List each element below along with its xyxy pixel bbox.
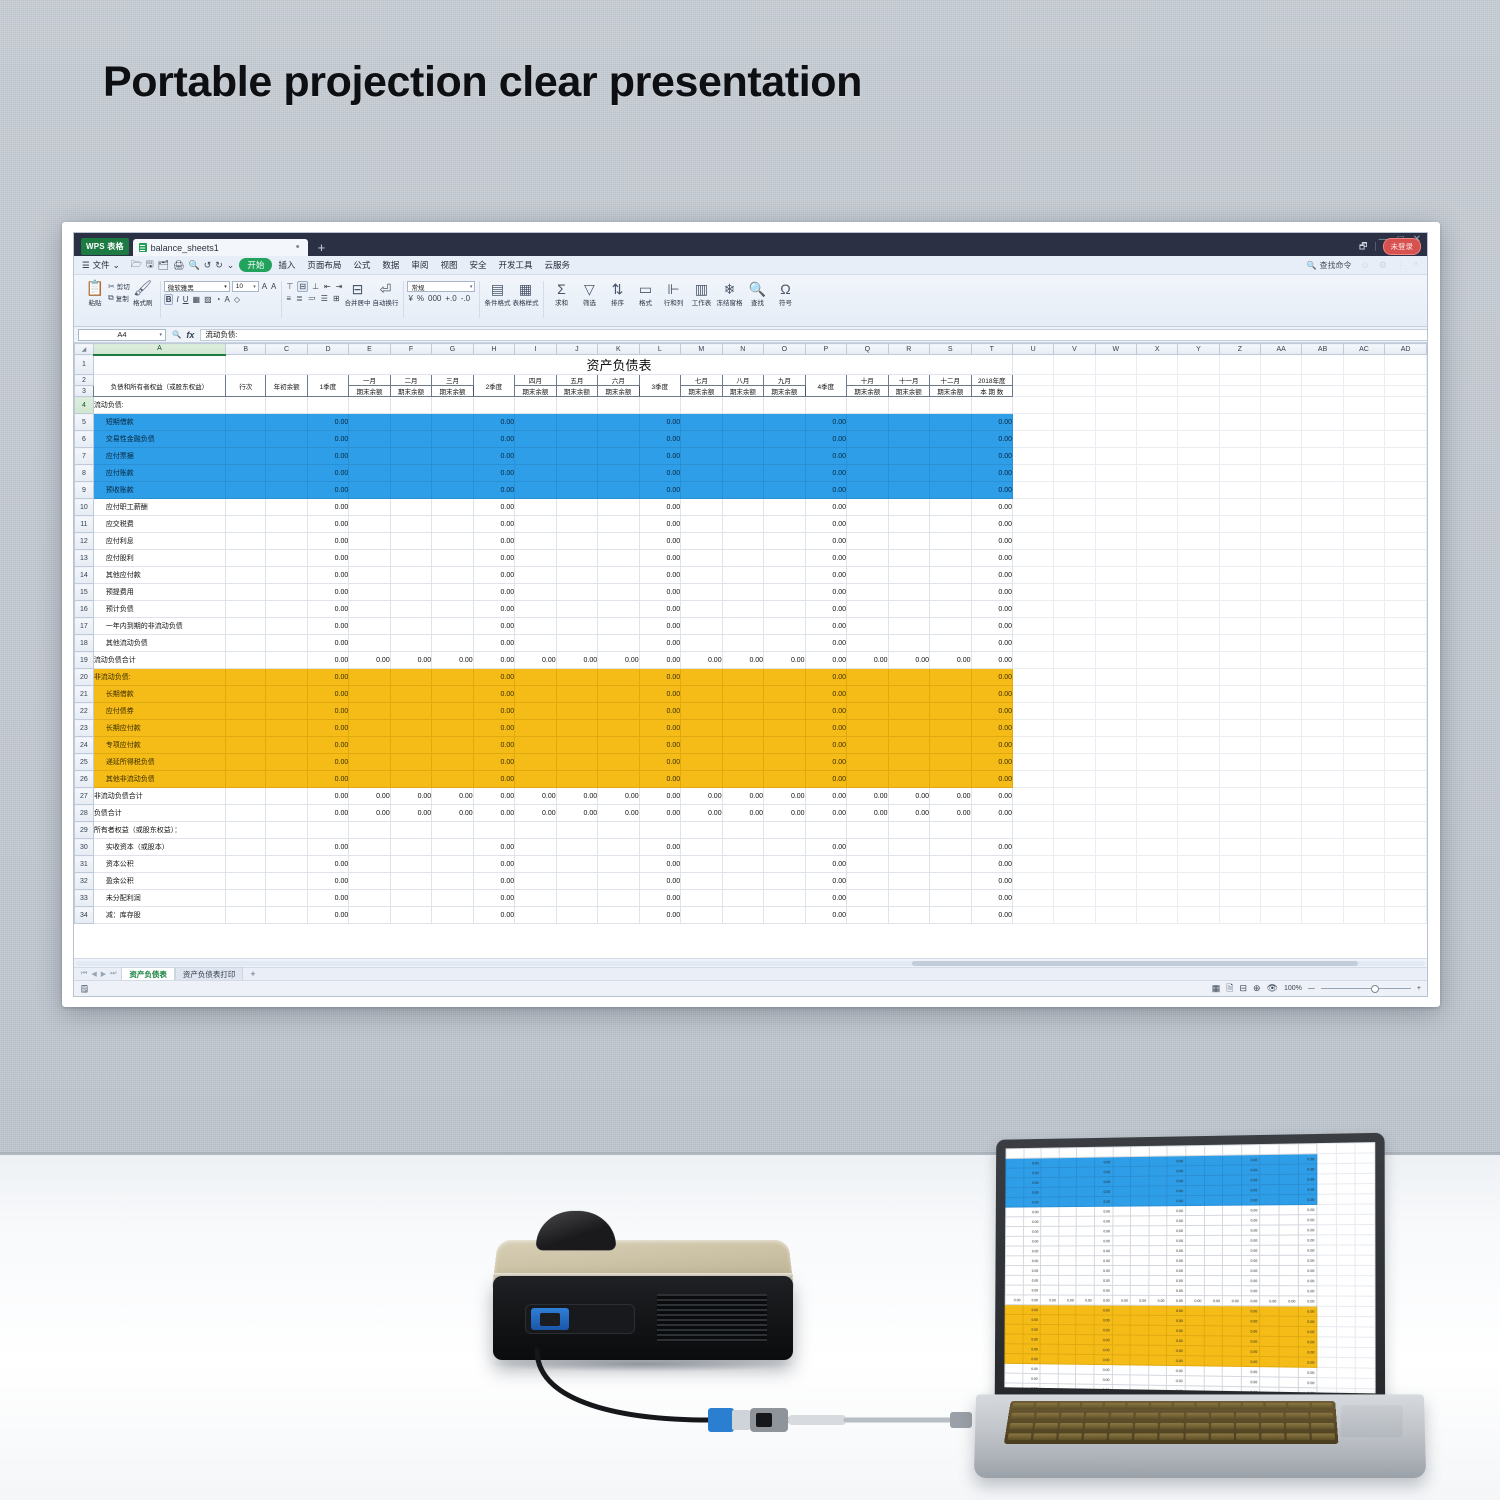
row-label-30[interactable]: 实收资本（或股本）: [93, 839, 225, 856]
scroll-track[interactable]: [76, 961, 1425, 966]
cell-P13[interactable]: 0.00: [805, 550, 846, 567]
blank-cell[interactable]: [1178, 720, 1219, 737]
cell-F4[interactable]: [390, 397, 431, 414]
cell-O8[interactable]: [764, 465, 805, 482]
blank-cell[interactable]: [1385, 584, 1427, 601]
tab-cloud-services[interactable]: 云服务: [538, 256, 576, 275]
zoom-slider-knob[interactable]: [1371, 985, 1379, 993]
blank-cell[interactable]: [1260, 375, 1301, 386]
blank-cell[interactable]: [1260, 386, 1301, 397]
blank-cell[interactable]: [1137, 754, 1178, 771]
cell-P23[interactable]: 0.00: [805, 720, 846, 737]
header-month-sub-二月[interactable]: 期末余额: [390, 386, 431, 397]
blank-cell[interactable]: [1178, 805, 1219, 822]
cell-J23[interactable]: [556, 720, 597, 737]
cell-T11[interactable]: 0.00: [971, 516, 1013, 533]
cell-J27[interactable]: 0.00: [556, 788, 597, 805]
cell-H13[interactable]: 0.00: [473, 550, 514, 567]
blank-cell[interactable]: [1302, 482, 1343, 499]
column-header-O[interactable]: O: [764, 344, 805, 355]
report-title-cell[interactable]: 资产负债表: [226, 355, 1013, 375]
cell-P9[interactable]: 0.00: [805, 482, 846, 499]
keyboard-key[interactable]: [1288, 1403, 1309, 1409]
cell-S33[interactable]: [930, 890, 971, 907]
blank-cell[interactable]: [1260, 703, 1301, 720]
cell-L9[interactable]: 0.00: [639, 482, 680, 499]
blank-cell[interactable]: [1385, 686, 1427, 703]
cell-F13[interactable]: [390, 550, 431, 567]
cell-E10[interactable]: [349, 499, 390, 516]
cell-F16[interactable]: [390, 601, 431, 618]
cell-J20[interactable]: [556, 669, 597, 686]
keyboard-key[interactable]: [1012, 1403, 1034, 1409]
customize-qat-icon[interactable]: ⌄: [227, 260, 235, 271]
font-color-icon[interactable]: A: [223, 295, 230, 304]
blank-cell[interactable]: [1385, 550, 1427, 567]
cell-P32[interactable]: 0.00: [805, 873, 846, 890]
cell-T28[interactable]: 0.00: [971, 805, 1013, 822]
cell-N24[interactable]: [722, 737, 763, 754]
blank-cell[interactable]: [1137, 448, 1178, 465]
keyboard-key[interactable]: [1220, 1403, 1241, 1409]
blank-cell[interactable]: [1302, 907, 1343, 924]
blank-cell[interactable]: [1343, 386, 1384, 397]
table-style-button[interactable]: ▦ 表格样式: [511, 278, 539, 307]
cell-Q22[interactable]: [847, 703, 888, 720]
cell-Q29[interactable]: [847, 822, 888, 839]
blank-cell[interactable]: [1343, 601, 1384, 618]
strikethrough-icon[interactable]: ▨: [203, 295, 213, 304]
blank-cell[interactable]: [1095, 754, 1136, 771]
blank-cell[interactable]: [1095, 533, 1136, 550]
cell-E26[interactable]: [349, 771, 390, 788]
cell-T16[interactable]: 0.00: [971, 601, 1013, 618]
cell-D22[interactable]: 0.00: [307, 703, 348, 720]
blank-cell[interactable]: [1219, 516, 1260, 533]
blank-cell[interactable]: [1260, 550, 1301, 567]
cell-D9[interactable]: 0.00: [307, 482, 348, 499]
blank-cell[interactable]: [1095, 499, 1136, 516]
cell-H26[interactable]: 0.00: [473, 771, 514, 788]
cell-P24[interactable]: 0.00: [805, 737, 846, 754]
cell-F5[interactable]: [390, 414, 431, 431]
blank-cell[interactable]: [1013, 822, 1054, 839]
blank-cell[interactable]: [1013, 669, 1054, 686]
cell-I12[interactable]: [515, 533, 556, 550]
cell-E34[interactable]: [349, 907, 390, 924]
sheet-row-26[interactable]: 26其他非流动负债0.000.000.000.000.00: [75, 771, 1427, 788]
cell-S21[interactable]: [930, 686, 971, 703]
blank-cell[interactable]: [1054, 703, 1095, 720]
row-header-2[interactable]: 2: [75, 375, 94, 386]
cell-L31[interactable]: 0.00: [639, 856, 680, 873]
cell-L20[interactable]: 0.00: [639, 669, 680, 686]
row-label-5[interactable]: 短期借款: [93, 414, 225, 431]
blank-cell[interactable]: [1178, 839, 1219, 856]
cell-G10[interactable]: [432, 499, 473, 516]
blank-cell[interactable]: [1219, 601, 1260, 618]
blank-cell[interactable]: [1013, 567, 1054, 584]
blank-cell[interactable]: [1137, 635, 1178, 652]
keyboard-key[interactable]: [1035, 1403, 1057, 1409]
sheet-row-33[interactable]: 33未分配利润0.000.000.000.000.00: [75, 890, 1427, 907]
blank-cell[interactable]: [1219, 533, 1260, 550]
cell-C28[interactable]: [266, 805, 307, 822]
blank-cell[interactable]: [1219, 386, 1260, 397]
row-header-9[interactable]: 9: [75, 482, 94, 499]
cell-N14[interactable]: [722, 567, 763, 584]
blank-cell[interactable]: [1054, 720, 1095, 737]
cell-K24[interactable]: [598, 737, 639, 754]
column-header-V[interactable]: V: [1054, 344, 1095, 355]
cell-C24[interactable]: [266, 737, 307, 754]
cell-N4[interactable]: [722, 397, 763, 414]
sheet-row-29[interactable]: 29所有者权益（或股东权益）：: [75, 822, 1427, 839]
blank-cell[interactable]: [1219, 397, 1260, 414]
blank-cell[interactable]: [1260, 448, 1301, 465]
cell-J5[interactable]: [556, 414, 597, 431]
cell-T15[interactable]: 0.00: [971, 584, 1013, 601]
cell-M5[interactable]: [681, 414, 722, 431]
blank-cell[interactable]: [1054, 584, 1095, 601]
decrease-decimal-icon[interactable]: -.0: [460, 294, 471, 303]
blank-cell[interactable]: [1054, 465, 1095, 482]
blank-cell[interactable]: [1137, 788, 1178, 805]
cell-I7[interactable]: [515, 448, 556, 465]
cell-I25[interactable]: [515, 754, 556, 771]
blank-cell[interactable]: [1137, 873, 1178, 890]
cell-I5[interactable]: [515, 414, 556, 431]
cell-H27[interactable]: 0.00: [473, 788, 514, 805]
blank-cell[interactable]: [1260, 822, 1301, 839]
header-month-sub-一月[interactable]: 期末余额: [349, 386, 390, 397]
header-month-七月[interactable]: 七月: [681, 375, 722, 386]
cell-D26[interactable]: 0.00: [307, 771, 348, 788]
cell-T10[interactable]: 0.00: [971, 499, 1013, 516]
cell-I9[interactable]: [515, 482, 556, 499]
cell-K9[interactable]: [598, 482, 639, 499]
cell-E23[interactable]: [349, 720, 390, 737]
cell-G8[interactable]: [432, 465, 473, 482]
sheet-nav-arrows[interactable]: ⏮ ◀ ▶ ⏭: [76, 970, 121, 978]
cell-O10[interactable]: [764, 499, 805, 516]
blank-cell[interactable]: [1343, 907, 1384, 924]
cell-G34[interactable]: [432, 907, 473, 924]
sheet-tab-balance[interactable]: 资产负债表: [121, 967, 175, 981]
cell-B20[interactable]: [226, 669, 266, 686]
keyboard-key[interactable]: [1136, 1413, 1159, 1419]
cell-J34[interactable]: [556, 907, 597, 924]
print-preview-icon[interactable]: ⊕: [1253, 983, 1261, 994]
cell-T13[interactable]: 0.00: [971, 550, 1013, 567]
cell-I29[interactable]: [515, 822, 556, 839]
cell-R20[interactable]: [888, 669, 929, 686]
cell-O7[interactable]: [764, 448, 805, 465]
align-top-icon[interactable]: ⊤: [285, 282, 294, 291]
borders-icon[interactable]: ▦: [192, 295, 202, 304]
cell-E12[interactable]: [349, 533, 390, 550]
column-header-G[interactable]: G: [432, 344, 473, 355]
keyboard-key[interactable]: [1058, 1433, 1082, 1440]
sheet-row-8[interactable]: 8应付账款0.000.000.000.000.00: [75, 465, 1427, 482]
cell-Q11[interactable]: [847, 516, 888, 533]
blank-cell[interactable]: [1385, 448, 1427, 465]
keyboard-key[interactable]: [1085, 1423, 1109, 1430]
cell-C31[interactable]: [266, 856, 307, 873]
blank-cell[interactable]: [1137, 805, 1178, 822]
cell-T31[interactable]: 0.00: [971, 856, 1013, 873]
row-label-18[interactable]: 其他流动负债: [93, 635, 225, 652]
cell-M11[interactable]: [681, 516, 722, 533]
keyboard-key[interactable]: [1261, 1433, 1285, 1440]
blank-cell[interactable]: [1385, 907, 1427, 924]
blank-cell[interactable]: [1095, 652, 1136, 669]
blank-cell[interactable]: [1385, 737, 1427, 754]
cell-T6[interactable]: 0.00: [971, 431, 1013, 448]
blank-cell[interactable]: [1013, 907, 1054, 924]
cell-A1[interactable]: [93, 355, 225, 375]
cell-C25[interactable]: [266, 754, 307, 771]
cell-M12[interactable]: [681, 533, 722, 550]
add-sheet-button[interactable]: +: [243, 969, 262, 979]
blank-cell[interactable]: [1260, 907, 1301, 924]
spreadsheet-grid[interactable]: ◢ABCDEFGHIJKLMNOPQRSTUVWXYZAAABACAD1资产负债…: [74, 343, 1427, 958]
keyboard-key[interactable]: [1058, 1403, 1080, 1409]
cell-C17[interactable]: [266, 618, 307, 635]
cell-L22[interactable]: 0.00: [639, 703, 680, 720]
cell-F10[interactable]: [390, 499, 431, 516]
cell-C26[interactable]: [266, 771, 307, 788]
cell-P27[interactable]: 0.00: [805, 788, 846, 805]
cell-T34[interactable]: 0.00: [971, 907, 1013, 924]
cell-C34[interactable]: [266, 907, 307, 924]
cell-Q34[interactable]: [847, 907, 888, 924]
cell-B16[interactable]: [226, 601, 266, 618]
keyboard-key[interactable]: [1151, 1403, 1172, 1409]
cell-I31[interactable]: [515, 856, 556, 873]
row-label-11[interactable]: 应交税费: [93, 516, 225, 533]
cell-G25[interactable]: [432, 754, 473, 771]
cell-M21[interactable]: [681, 686, 722, 703]
cell-M7[interactable]: [681, 448, 722, 465]
blank-cell[interactable]: [1219, 788, 1260, 805]
cell-L17[interactable]: 0.00: [639, 618, 680, 635]
blank-cell[interactable]: [1260, 873, 1301, 890]
blank-cell[interactable]: [1095, 873, 1136, 890]
blank-cell[interactable]: [1095, 771, 1136, 788]
cell-S13[interactable]: [930, 550, 971, 567]
cell-M17[interactable]: [681, 618, 722, 635]
cell-T20[interactable]: 0.00: [971, 669, 1013, 686]
cell-B22[interactable]: [226, 703, 266, 720]
cell-S24[interactable]: [930, 737, 971, 754]
blank-cell[interactable]: [1260, 397, 1301, 414]
font-family-select[interactable]: 微软雅黑: [164, 281, 230, 292]
cell-D32[interactable]: 0.00: [307, 873, 348, 890]
blank-cell[interactable]: [1302, 465, 1343, 482]
blank-cell[interactable]: [1178, 448, 1219, 465]
blank-cell[interactable]: [1302, 414, 1343, 431]
column-header-F[interactable]: F: [390, 344, 431, 355]
print-icon[interactable]: 🖨: [173, 260, 184, 271]
sheet-row-22[interactable]: 22应付债券0.000.000.000.000.00: [75, 703, 1427, 720]
blank-cell[interactable]: [1343, 431, 1384, 448]
cell-I32[interactable]: [515, 873, 556, 890]
cell-D20[interactable]: 0.00: [307, 669, 348, 686]
cell-F23[interactable]: [390, 720, 431, 737]
increase-indent-icon[interactable]: ⇥: [335, 282, 344, 291]
blank-cell[interactable]: [1385, 856, 1427, 873]
cell-C8[interactable]: [266, 465, 307, 482]
cell-J21[interactable]: [556, 686, 597, 703]
cell-T14[interactable]: 0.00: [971, 567, 1013, 584]
blank-cell[interactable]: [1178, 754, 1219, 771]
cell-K7[interactable]: [598, 448, 639, 465]
blank-cell[interactable]: [1343, 720, 1384, 737]
keyboard-key[interactable]: [1059, 1423, 1083, 1430]
cell-F17[interactable]: [390, 618, 431, 635]
cell-D34[interactable]: 0.00: [307, 907, 348, 924]
blank-cell[interactable]: [1137, 375, 1178, 386]
keyboard-key[interactable]: [1111, 1413, 1134, 1419]
last-sheet-icon[interactable]: ⏭: [110, 970, 116, 978]
column-header-W[interactable]: W: [1095, 344, 1136, 355]
blank-cell[interactable]: [1385, 703, 1427, 720]
blank-cell[interactable]: [1385, 754, 1427, 771]
blank-cell[interactable]: [1178, 533, 1219, 550]
laptop-trackpad[interactable]: [1340, 1405, 1403, 1437]
blank-cell[interactable]: [1178, 431, 1219, 448]
cell-C18[interactable]: [266, 635, 307, 652]
cell-O21[interactable]: [764, 686, 805, 703]
blank-cell[interactable]: [1137, 516, 1178, 533]
cell-Q28[interactable]: 0.00: [847, 805, 888, 822]
cell-K6[interactable]: [598, 431, 639, 448]
cell-S17[interactable]: [930, 618, 971, 635]
cell-R4[interactable]: [888, 397, 929, 414]
cell-Q24[interactable]: [847, 737, 888, 754]
cell-Q14[interactable]: [847, 567, 888, 584]
keyboard-key[interactable]: [1236, 1423, 1259, 1430]
blank-cell[interactable]: [1013, 584, 1054, 601]
cell-I4[interactable]: [515, 397, 556, 414]
cell-I20[interactable]: [515, 669, 556, 686]
format-button[interactable]: ▭ 格式: [631, 278, 659, 307]
blank-cell[interactable]: [1343, 822, 1384, 839]
sheet-row-9[interactable]: 9预收账款0.000.000.000.000.00: [75, 482, 1427, 499]
cell-H21[interactable]: 0.00: [473, 686, 514, 703]
cell-K20[interactable]: [598, 669, 639, 686]
cell-K15[interactable]: [598, 584, 639, 601]
cell-N27[interactable]: 0.00: [722, 788, 763, 805]
zoom-in-button[interactable]: +: [1417, 985, 1421, 992]
format-painter-button[interactable]: 🖌 格式刷: [130, 278, 156, 307]
blank-cell[interactable]: [1260, 431, 1301, 448]
cell-M28[interactable]: 0.00: [681, 805, 722, 822]
header-month-sub-三月[interactable]: 期末余额: [432, 386, 473, 397]
row-header-22[interactable]: 22: [75, 703, 94, 720]
blank-cell[interactable]: [1343, 584, 1384, 601]
new-tab-button[interactable]: +: [318, 241, 326, 254]
cell-G13[interactable]: [432, 550, 473, 567]
blank-cell[interactable]: [1260, 533, 1301, 550]
cell-N17[interactable]: [722, 618, 763, 635]
cell-Q27[interactable]: 0.00: [847, 788, 888, 805]
cell-M29[interactable]: [681, 822, 722, 839]
cell-O25[interactable]: [764, 754, 805, 771]
cell-I19[interactable]: 0.00: [515, 652, 556, 669]
cell-B6[interactable]: [226, 431, 266, 448]
row-header-32[interactable]: 32: [75, 873, 94, 890]
cell-O26[interactable]: [764, 771, 805, 788]
blank-cell[interactable]: [1302, 618, 1343, 635]
cell-K19[interactable]: 0.00: [598, 652, 639, 669]
row-label-27[interactable]: 非流动负债合计: [93, 788, 225, 805]
cell-D17[interactable]: 0.00: [307, 618, 348, 635]
cell-I13[interactable]: [515, 550, 556, 567]
blank-cell[interactable]: [1343, 567, 1384, 584]
blank-cell[interactable]: [1178, 737, 1219, 754]
cell-R12[interactable]: [888, 533, 929, 550]
cell-N15[interactable]: [722, 584, 763, 601]
blank-cell[interactable]: [1260, 754, 1301, 771]
cell-O17[interactable]: [764, 618, 805, 635]
blank-cell[interactable]: [1343, 516, 1384, 533]
blank-cell[interactable]: [1054, 686, 1095, 703]
cell-C20[interactable]: [266, 669, 307, 686]
cell-E6[interactable]: [349, 431, 390, 448]
cell-E4[interactable]: [349, 397, 390, 414]
row-label-25[interactable]: 递延所得税负债: [93, 754, 225, 771]
cell-O30[interactable]: [764, 839, 805, 856]
cell-T7[interactable]: 0.00: [971, 448, 1013, 465]
cell-G5[interactable]: [432, 414, 473, 431]
row-header-4[interactable]: 4: [75, 397, 94, 414]
cell-R14[interactable]: [888, 567, 929, 584]
keyboard-key[interactable]: [1210, 1433, 1233, 1440]
cell-L19[interactable]: 0.00: [639, 652, 680, 669]
blank-cell[interactable]: [1219, 584, 1260, 601]
keyboard-key[interactable]: [1127, 1403, 1148, 1409]
row-header-31[interactable]: 31: [75, 856, 94, 873]
cell-R15[interactable]: [888, 584, 929, 601]
column-header-P[interactable]: P: [805, 344, 846, 355]
sheet-row-28[interactable]: 28负债合计0.000.000.000.000.000.000.000.000.…: [75, 805, 1427, 822]
align-bottom-icon[interactable]: ⊥: [311, 282, 320, 291]
blank-cell[interactable]: [1095, 890, 1136, 907]
cell-M24[interactable]: [681, 737, 722, 754]
blank-cell[interactable]: [1178, 890, 1219, 907]
keyboard-key[interactable]: [1033, 1433, 1057, 1440]
blank-cell[interactable]: [1095, 856, 1136, 873]
cell-L8[interactable]: 0.00: [639, 465, 680, 482]
keyboard-key[interactable]: [1011, 1413, 1035, 1419]
formula-input[interactable]: 流动负债:: [200, 329, 1427, 341]
currency-format-icon[interactable]: ¥: [407, 294, 413, 303]
blank-cell[interactable]: [1054, 482, 1095, 499]
blank-cell[interactable]: [1343, 448, 1384, 465]
cell-G4[interactable]: [432, 397, 473, 414]
cell-L21[interactable]: 0.00: [639, 686, 680, 703]
column-header-K[interactable]: K: [598, 344, 639, 355]
blank-cell[interactable]: [1054, 618, 1095, 635]
row-header-12[interactable]: 12: [75, 533, 94, 550]
row-label-24[interactable]: 专项应付款: [93, 737, 225, 754]
column-header-Q[interactable]: Q: [847, 344, 888, 355]
cell-L15[interactable]: 0.00: [639, 584, 680, 601]
cell-E8[interactable]: [349, 465, 390, 482]
blank-cell[interactable]: [1385, 771, 1427, 788]
